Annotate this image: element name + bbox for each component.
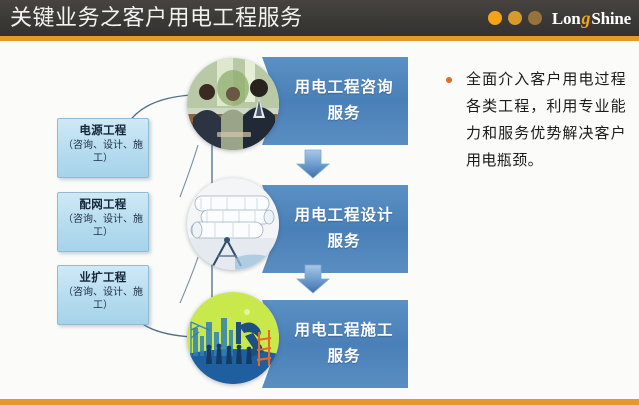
blueprint-drawings-photo [187, 178, 279, 270]
logo-dot-icon-2 [508, 11, 522, 25]
down-arrow-icon-1 [296, 149, 330, 179]
slide-header: 关键业务之客户用电工程服务 LongShine [0, 0, 639, 36]
logo-text-left: Lon [552, 9, 581, 28]
flow-banner-label: 用电工程咨询服务 [292, 75, 397, 127]
header-accent-bar [0, 36, 639, 41]
flow-banner-label: 用电工程施工服务 [292, 318, 397, 370]
brand-logo: LongShine [488, 6, 631, 30]
logo-g-mark-icon: g [581, 8, 592, 28]
slide-root: 关键业务之客户用电工程服务 LongShine 电源工程 （咨询、设计、施工） … [0, 0, 639, 405]
left-box-title: 配网工程 [58, 193, 148, 212]
flow-banner-label: 用电工程设计服务 [292, 203, 397, 255]
notes-block: 全面介入客户用电过程各类工程，利用专业能力和服务优势解决客户用电瓶颈。 [446, 66, 626, 174]
left-box-subtitle: （咨询、设计、施工） [58, 212, 148, 239]
left-box-subtitle: （咨询、设计、施工） [58, 138, 148, 165]
left-box-title: 业扩工程 [58, 266, 148, 285]
notes-text: 全面介入客户用电过程各类工程，利用专业能力和服务优势解决客户用电瓶颈。 [466, 66, 626, 174]
logo-dot-icon-1 [488, 11, 502, 25]
flow-banner-construction[interactable]: 用电工程施工服务 [262, 300, 408, 388]
left-box-power-engineering[interactable]: 电源工程 （咨询、设计、施工） [57, 118, 149, 178]
down-arrow-icon-2 [296, 264, 330, 294]
flow-banner-consulting[interactable]: 用电工程咨询服务 [262, 57, 408, 145]
left-box-distribution-engineering[interactable]: 配网工程 （咨询、设计、施工） [57, 192, 149, 252]
logo-text: LongShine [552, 8, 631, 29]
left-box-subtitle: （咨询、设计、施工） [58, 285, 148, 312]
construction-site-illustration [187, 292, 279, 384]
bullet-dot-icon [446, 77, 452, 83]
footer-accent-bar [0, 399, 639, 405]
left-box-title: 电源工程 [58, 119, 148, 138]
logo-dot-icon-3 [528, 11, 542, 25]
business-meeting-photo [187, 58, 279, 150]
logo-text-right: Shine [591, 9, 631, 28]
flow-banner-design[interactable]: 用电工程设计服务 [262, 185, 408, 273]
left-box-expansion-engineering[interactable]: 业扩工程 （咨询、设计、施工） [57, 265, 149, 325]
page-title: 关键业务之客户用电工程服务 [10, 3, 303, 33]
